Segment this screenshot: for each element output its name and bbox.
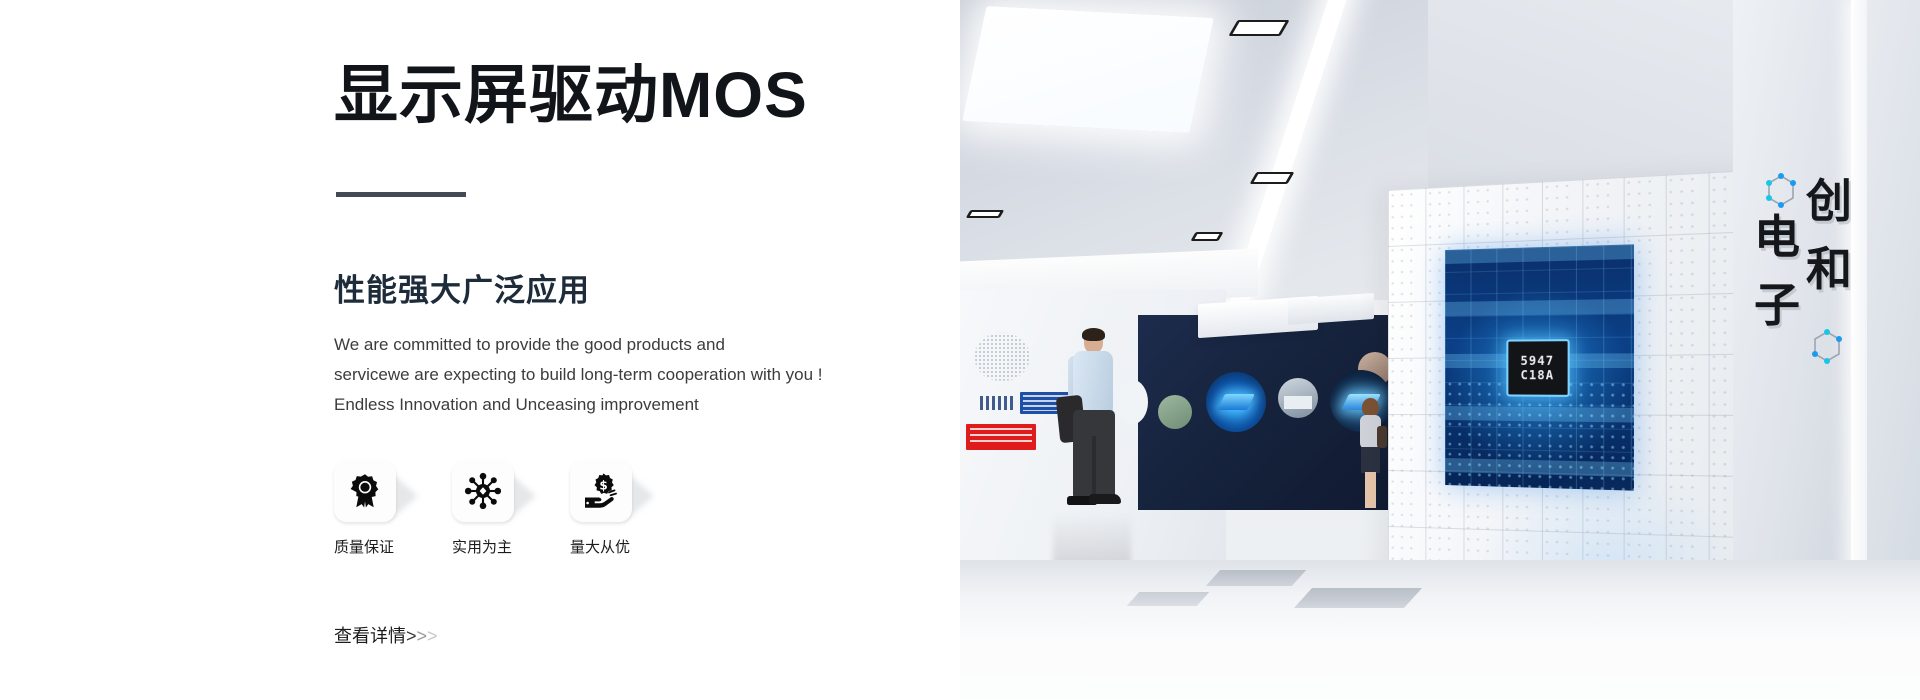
dotted-world-map-graphic <box>970 330 1050 390</box>
page-subtitle: 性能强大广泛应用 <box>334 265 590 310</box>
company-wall-sign: 创 和 电 子 <box>1748 178 1856 378</box>
feature-item-practical[interactable]: 实用为主 <box>452 460 570 522</box>
award-ribbon-icon <box>334 460 396 522</box>
floor-reflection-sheen <box>958 600 1920 700</box>
view-details-link[interactable]: 查看详情>>> <box>334 622 438 648</box>
feature-label-quality: 质量保证 <box>334 536 452 557</box>
text-content-inner: 显示屏驱动MOS 性能强大广泛应用 We are committed to pr… <box>334 0 934 700</box>
svg-text:$: $ <box>599 478 607 492</box>
feature-list: 质量保证 <box>334 460 688 522</box>
skylight-panel-light <box>962 6 1214 133</box>
text-panel: 显示屏驱动MOS 性能强大广泛应用 We are committed to pr… <box>0 0 960 700</box>
feature-item-quality[interactable]: 质量保证 <box>334 460 452 522</box>
chevron-right-icon-1: > <box>406 626 417 646</box>
chip-label-line-1: 5947 <box>1521 353 1555 367</box>
chevron-right-icon-3: > <box>427 626 438 646</box>
hexagon-molecule-icon <box>1764 172 1798 210</box>
recessed-spotlight <box>966 210 1005 218</box>
hexagon-molecule-icon <box>1810 328 1844 366</box>
wall-sign-char-4: 子 <box>1754 282 1800 328</box>
businessman-figure <box>1053 330 1131 510</box>
description-line-2: servicewe are expecting to build long-te… <box>334 360 894 390</box>
recessed-spotlight <box>1250 172 1295 184</box>
wall-sign-char-3: 电 <box>1754 214 1800 260</box>
description-paragraph: We are committed to provide the good pro… <box>334 330 894 420</box>
feature-label-bulk-discount: 量大从优 <box>570 536 688 557</box>
hand-money-icon: $ <box>570 460 632 522</box>
wall-medallion <box>1278 378 1318 418</box>
description-line-1: We are committed to provide the good pro… <box>334 330 894 360</box>
wall-medallion-chip-graphic <box>1206 372 1266 432</box>
chip-label-line-2: C18A <box>1521 368 1555 382</box>
wall-sign-char-1: 创 <box>1806 178 1852 224</box>
feature-item-bulk-discount[interactable]: $ 量大从优 <box>570 460 688 522</box>
recessed-spotlight <box>1228 20 1289 36</box>
page-title: 显示屏驱动MOS <box>334 60 808 130</box>
wall-text-block <box>980 396 1014 410</box>
chevron-right-icon-2: > <box>417 626 428 646</box>
showroom-interior-photo: 5947 C18A 创 和 电 子 <box>958 0 1920 700</box>
view-details-text: 查看详情 <box>334 626 406 646</box>
title-divider <box>336 192 466 197</box>
blue-led-display-screen: 5947 C18A <box>1445 244 1634 490</box>
wall-sign-char-2: 和 <box>1806 246 1852 292</box>
hero-banner: 显示屏驱动MOS 性能强大广泛应用 We are committed to pr… <box>0 0 1920 700</box>
businesswoman-figure <box>1353 400 1387 512</box>
wall-medallion <box>1158 395 1192 429</box>
description-line-3: Endless Innovation and Unceasing improve… <box>334 390 894 420</box>
network-hub-icon <box>452 460 514 522</box>
feature-label-practical: 实用为主 <box>452 536 570 557</box>
red-info-panel <box>966 424 1036 450</box>
floor-tile-accent <box>1206 570 1306 586</box>
chip-graphic: 5947 C18A <box>1506 339 1569 397</box>
recessed-spotlight <box>1190 232 1223 241</box>
